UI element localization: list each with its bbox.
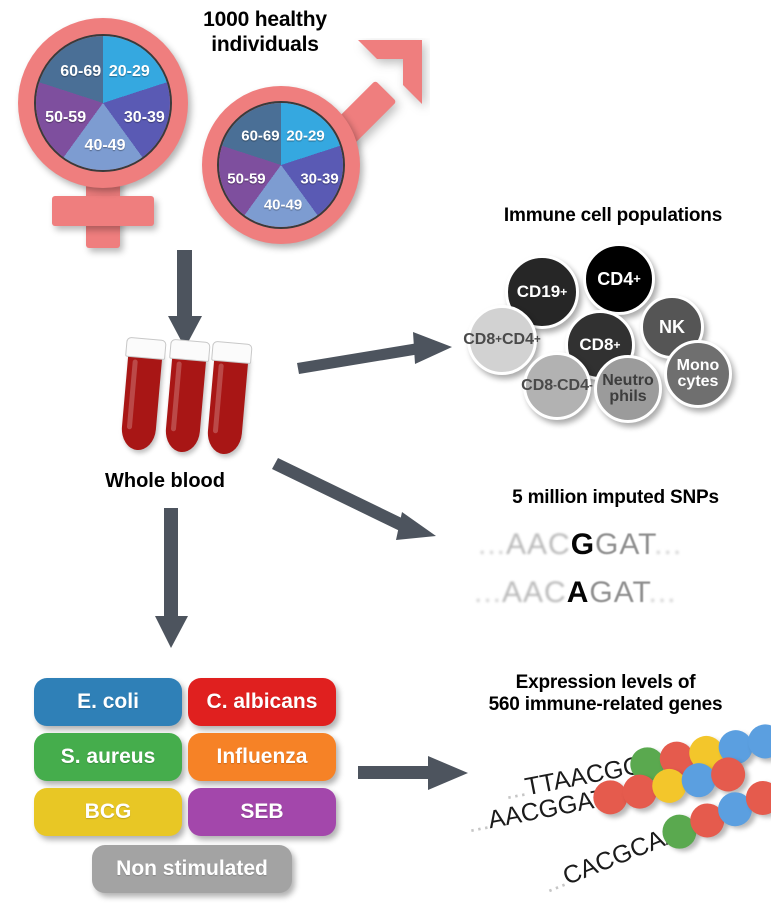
gene-expression-dot — [627, 744, 667, 784]
blood-tube — [120, 337, 164, 452]
female-symbol: 20-2930-3940-4950-5960-69 — [10, 18, 210, 258]
tube-body — [206, 355, 248, 456]
section-title-immune-cells: Immune cell populations — [455, 205, 771, 227]
snp-variant-base: A — [567, 576, 590, 609]
immune-cell-cd4: CD4+ — [583, 243, 655, 315]
age-slice-label: 30-39 — [300, 170, 338, 187]
immune-cell-monocytes: Monocytes — [664, 340, 732, 408]
snp-sequence-group: ...AACGGAT......AACAGAT... — [470, 528, 760, 623]
immune-cell-cd8-cd4: CD8-CD4- — [523, 352, 591, 420]
section-title-genes: Expression levels of 560 immune-related … — [440, 672, 771, 717]
snp-variant-base: G — [571, 528, 595, 561]
age-slice-label: 60-69 — [241, 127, 279, 144]
immune-cell-nk: NK — [640, 295, 704, 359]
tube-body — [164, 353, 206, 454]
blood-tubes-group — [110, 336, 260, 466]
arrow-blood-to-snps — [262, 422, 462, 552]
snp-right-bases: GAT — [595, 528, 654, 561]
immune-cell-neutrophils: Neutrophils — [594, 355, 662, 423]
whole-blood-label: Whole blood — [60, 470, 270, 493]
gene-expression-dot — [686, 733, 726, 773]
snp-right-bases: GAT — [589, 576, 648, 609]
strand-ellipsis: ... — [540, 865, 570, 899]
snp-prefix-ellipsis: ... — [478, 528, 506, 561]
gene-expression-dot — [620, 772, 660, 812]
arrow-blood-to-immune — [297, 328, 457, 388]
gene-strand-sequence: ...TTAACGG — [502, 751, 645, 806]
immune-cell-cd19: CD19+ — [505, 255, 579, 329]
female-cross — [52, 196, 154, 226]
stimulus-c-albicans[interactable]: C. albicans — [188, 678, 336, 726]
stimulus-e-coli[interactable]: E. coli — [34, 678, 182, 726]
immune-cell-cd8: CD8+ — [565, 310, 635, 380]
gene-expression-dot — [708, 755, 748, 795]
stimulus-s-aureus[interactable]: S. aureus — [34, 733, 182, 781]
gene-expression-dot — [713, 787, 757, 831]
gene-strand-sequence: ...CACGCAA — [540, 818, 685, 899]
stimulus-non-stimulated[interactable]: Non stimulated — [92, 845, 292, 893]
tube-rim — [169, 339, 211, 362]
stimulus-seb[interactable]: SEB — [188, 788, 336, 836]
snp-sequence-row: ...AACGGAT... — [478, 528, 682, 562]
age-slice-label: 20-29 — [286, 127, 324, 144]
age-slice-label: 60-69 — [60, 63, 101, 81]
gene-expression-dot — [716, 727, 756, 767]
gene-expression-dot — [741, 776, 771, 820]
tube-body — [120, 351, 162, 452]
gene-expression-dot — [657, 739, 697, 779]
stimulus-bcg[interactable]: BCG — [34, 788, 182, 836]
age-slice-label: 40-49 — [264, 197, 302, 214]
diagram-canvas: 1000 healthy individuals 20-2930-3940-49… — [0, 0, 771, 922]
gene-strand-sequence: ...AACGGAT — [465, 784, 609, 839]
tube-rim — [125, 337, 167, 360]
snp-sequence-row: ...AACAGAT... — [474, 576, 677, 610]
immune-cell-cd8-cd4: CD8+CD4+ — [467, 305, 537, 375]
age-slice-label: 50-59 — [227, 170, 265, 187]
snp-suffix-ellipsis: ... — [649, 576, 677, 609]
gene-expression-dot — [649, 766, 689, 806]
gene-strand: ...CACGCAA — [538, 756, 771, 905]
blood-tube — [206, 341, 250, 456]
snp-suffix-ellipsis: ... — [654, 528, 682, 561]
tube-rim — [211, 341, 253, 364]
gene-strand: ...TTAACGG — [501, 716, 771, 812]
blood-tube — [164, 339, 208, 454]
age-pie-female: 20-2930-3940-4950-5960-69 — [34, 34, 172, 172]
age-pie-male: 20-2930-3940-4950-5960-69 — [217, 101, 345, 229]
snp-left-bases: AAC — [502, 576, 567, 609]
gene-expression-dot — [590, 777, 630, 817]
age-slice-label: 20-29 — [109, 63, 150, 81]
strand-ellipsis: ... — [465, 807, 491, 838]
age-slice-label: 30-39 — [124, 109, 165, 127]
age-slice-label: 50-59 — [45, 109, 86, 127]
gene-expression-dot — [685, 798, 729, 842]
gene-expression-dot — [745, 722, 771, 762]
age-slice-label: 40-49 — [85, 137, 126, 155]
section-title-snps: 5 million imputed SNPs — [460, 487, 771, 509]
gene-strand: ...AACGGAT — [464, 749, 764, 845]
strand-ellipsis: ... — [502, 774, 528, 805]
snp-prefix-ellipsis: ... — [474, 576, 502, 609]
gene-expression-dot — [657, 810, 701, 854]
stimulus-influenza[interactable]: Influenza — [188, 733, 336, 781]
male-symbol: 20-2930-3940-4950-5960-69 — [196, 38, 426, 253]
arrow-blood-to-stimuli — [148, 508, 208, 658]
snp-left-bases: AAC — [506, 528, 571, 561]
arrow-stimuli-to-genes — [358, 752, 478, 802]
gene-expression-dot — [679, 760, 719, 800]
